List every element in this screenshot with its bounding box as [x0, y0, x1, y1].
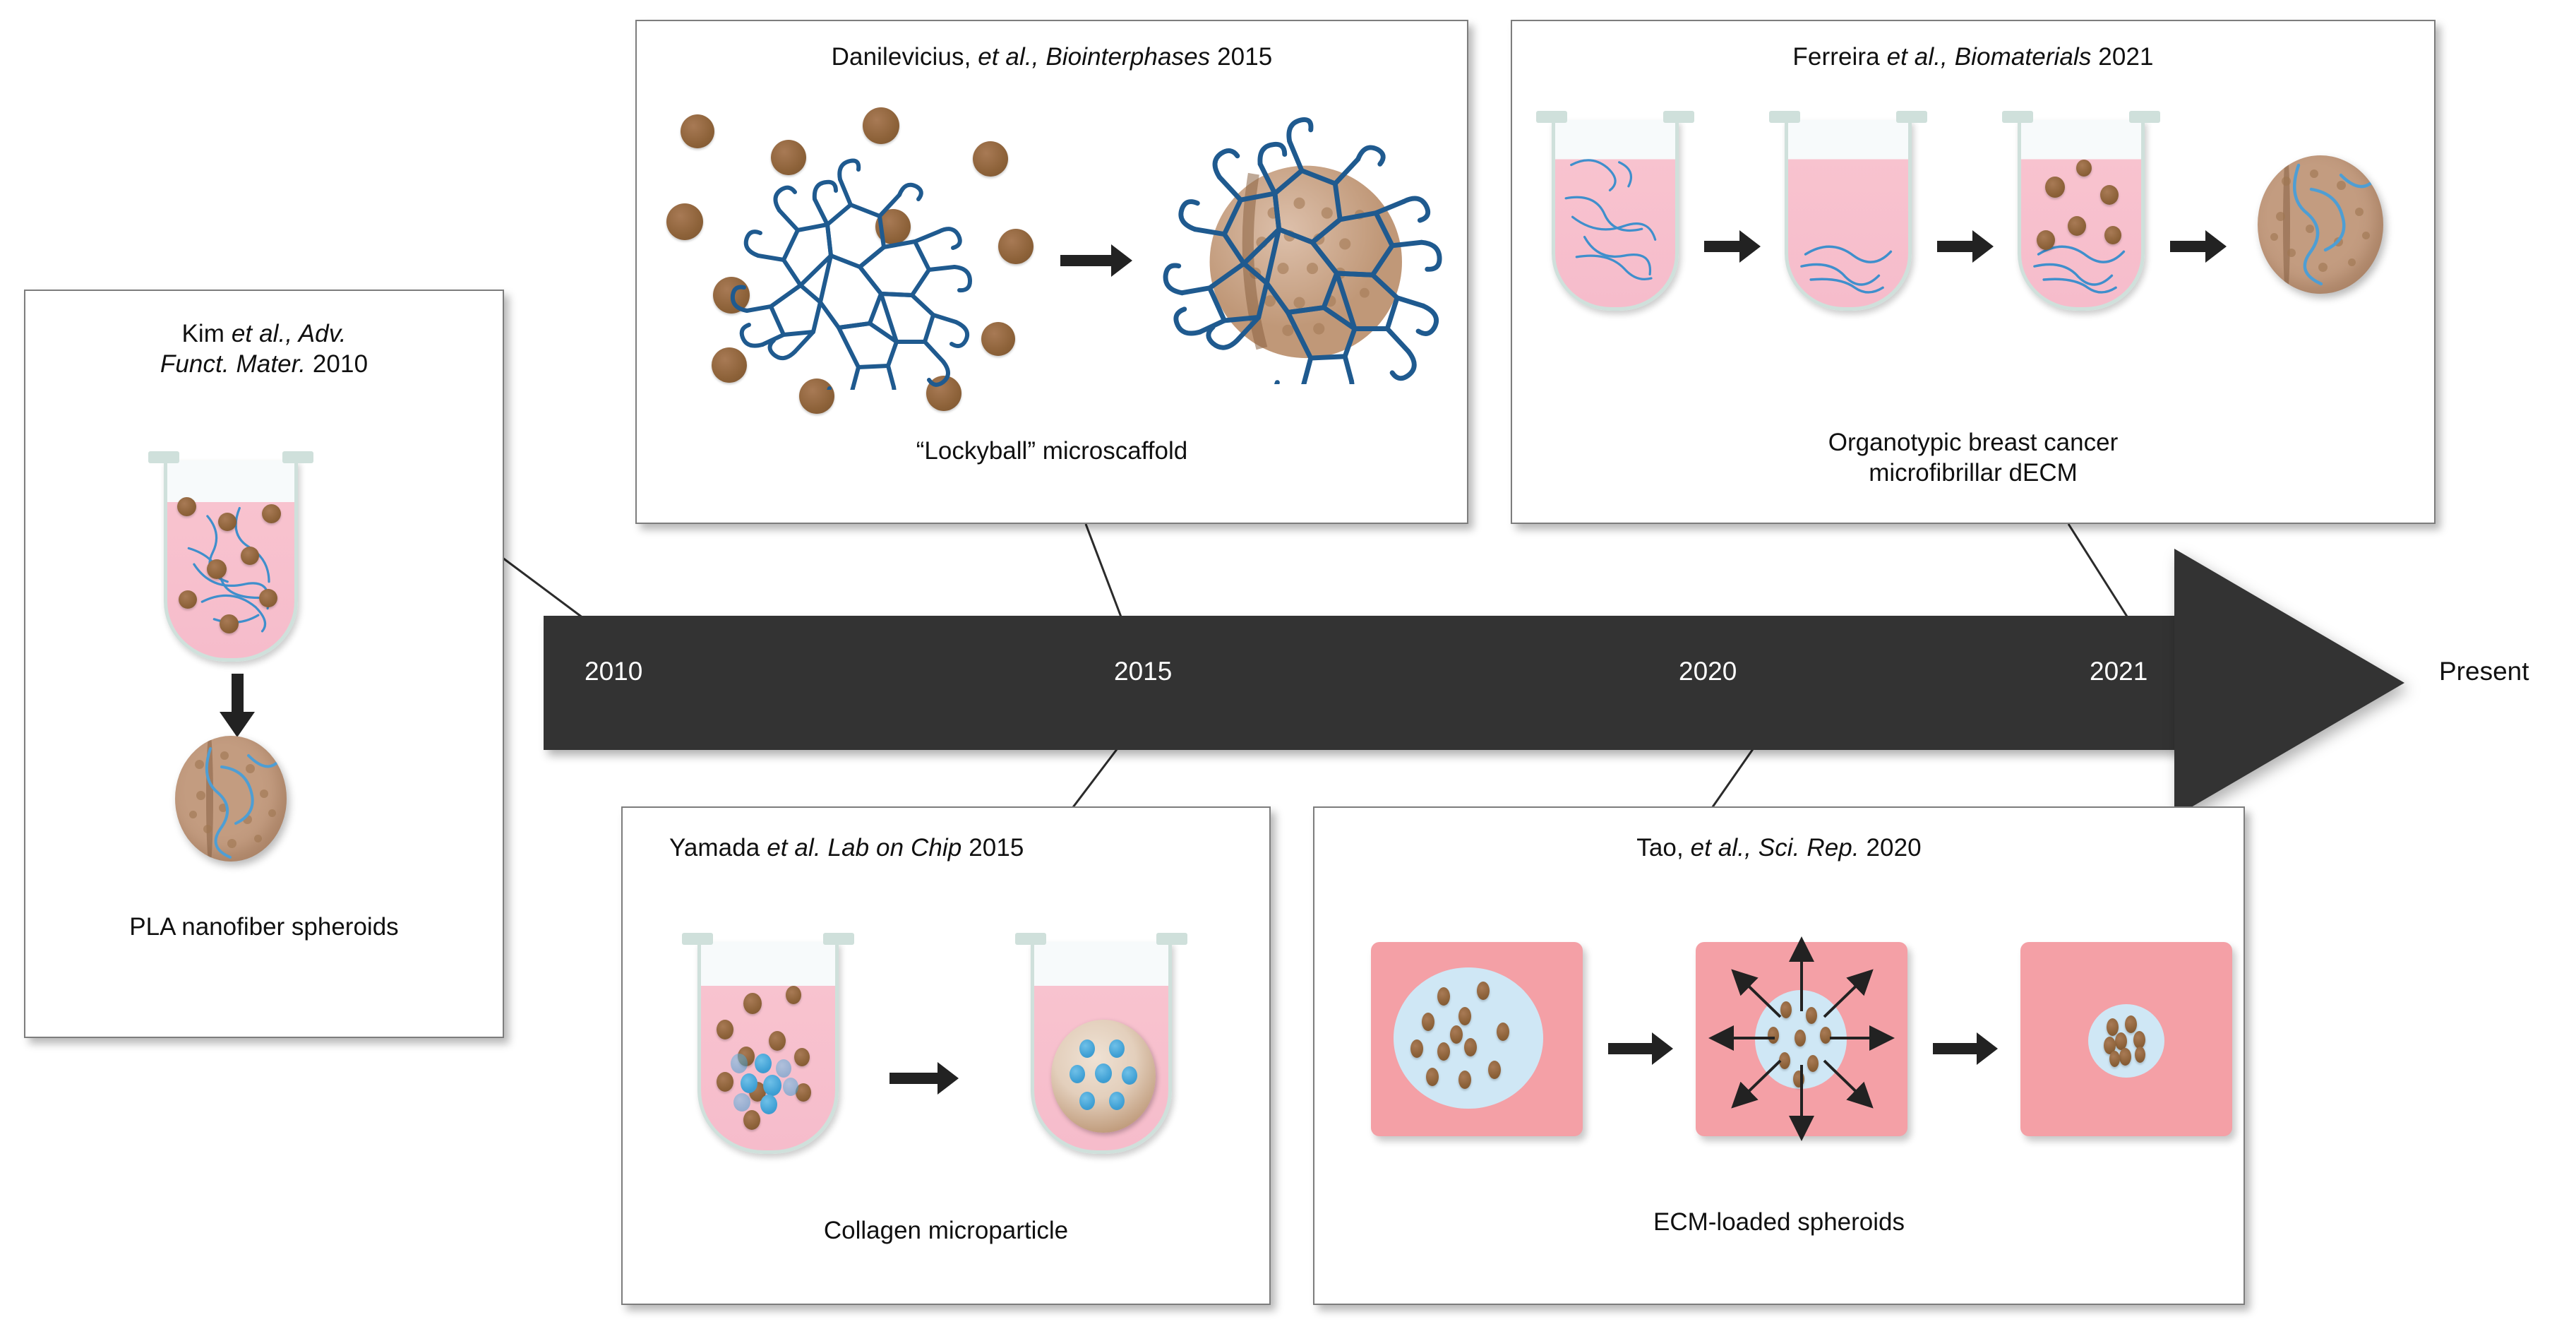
timeline-arrow: 2010 2015 2020 2021	[544, 616, 2400, 750]
panel-tao-title: Tao, et al., Sci. Rep. 2020	[1314, 833, 2243, 864]
kim-microtube-icon	[164, 460, 298, 662]
ecm-droplet	[2088, 1004, 2164, 1078]
ferreira-tube-2	[1785, 120, 1912, 311]
panel-ferreira-caption: Organotypic breast cancermicrofibrillar …	[1512, 428, 2434, 488]
cell-dot	[2037, 230, 2055, 250]
lockyball-empty-icon	[727, 143, 974, 390]
panel-tao-caption: ECM-loaded spheroids	[1314, 1208, 2243, 1238]
panel-yamada-title: Yamada et al. Lab on Chip 2015	[623, 833, 1269, 864]
cell-dot	[681, 114, 714, 148]
cell-dot	[218, 513, 236, 531]
cell-dot	[2100, 185, 2119, 205]
cell-dot	[241, 547, 259, 565]
timeline-bar	[544, 616, 2195, 750]
timeline-tick-2015: 2015	[1114, 657, 1172, 686]
kim-spheroid-icon	[175, 736, 287, 862]
ferreira-spheroid-icon	[2258, 155, 2383, 294]
panel-kim-title: Kim et al., Adv. Funct. Mater. 2010	[25, 319, 503, 379]
fiber-strokes	[2021, 120, 2141, 307]
cell-dot	[973, 141, 1008, 177]
timeline-tick-2020: 2020	[1679, 657, 1737, 686]
tao-gel-square-2	[1696, 942, 1907, 1136]
panel-ferreira-2021[interactable]: Ferreira et al., Biomaterials 2021	[1511, 20, 2436, 524]
timeline-tick-2021: 2021	[2090, 657, 2147, 686]
cell-dot	[259, 589, 277, 607]
arrow-shaft	[232, 674, 244, 712]
arrow-shaft	[1060, 255, 1111, 266]
cell-dot	[2068, 216, 2086, 236]
timeline-arrowhead	[2174, 549, 2404, 817]
fiber-strokes	[1788, 120, 1908, 307]
tao-arrow-2	[1933, 1032, 1998, 1065]
cell-dot	[666, 203, 703, 240]
cell-dot	[2045, 177, 2065, 198]
tube-body	[697, 942, 839, 1154]
panel-ferreira-title: Ferreira et al., Biomaterials 2021	[1512, 42, 2434, 73]
compression-arrows	[1696, 926, 1907, 1152]
cell-dot	[998, 229, 1034, 264]
tao-gel-square-1	[1371, 942, 1583, 1136]
cell-dot	[863, 107, 899, 144]
lockyball-loaded-icon	[1159, 99, 1444, 384]
figure-canvas: 2010 2015 2020 2021 Present Kim et al., …	[0, 0, 2576, 1329]
yamada-tube-2	[1031, 942, 1172, 1154]
yamada-process-arrow	[889, 1062, 959, 1095]
ecm-droplet	[1394, 967, 1543, 1109]
panel-kim-2010[interactable]: Kim et al., Adv. Funct. Mater. 2010	[24, 290, 504, 1038]
cell-dot	[2104, 226, 2121, 244]
panel-danilevicius-caption: “Lockyball” microscaffold	[637, 436, 1467, 467]
ferreira-arrow-3	[2170, 230, 2227, 263]
cell-dot	[2076, 160, 2092, 177]
ferreira-arrow-2	[1937, 230, 1994, 263]
panel-tao-2020[interactable]: Tao, et al., Sci. Rep. 2020	[1313, 806, 2245, 1305]
tube-rim-left	[148, 451, 179, 463]
ferreira-tube-3	[2018, 120, 2145, 311]
danilevicius-stage-1	[651, 99, 1046, 417]
timeline-tick-2010: 2010	[585, 657, 642, 686]
panel-danilevicius-2015[interactable]: Danilevicius, et al., Biointerphases 201…	[635, 20, 1468, 524]
yamada-tube-1	[697, 942, 839, 1154]
danilevicius-process-arrow	[1060, 244, 1132, 277]
cell-dot	[207, 559, 227, 579]
spheroid-fiber-strokes	[175, 736, 287, 862]
tube-body	[2018, 120, 2145, 311]
ferreira-tube-1	[1552, 120, 1679, 311]
cell-dot	[177, 497, 196, 516]
tube-body	[1031, 942, 1172, 1154]
tao-arrow-1	[1608, 1032, 1673, 1065]
kim-process-arrow	[220, 674, 255, 737]
cell-dot	[220, 614, 239, 633]
panel-yamada-caption: Collagen microparticle	[623, 1216, 1269, 1246]
tube-body	[1785, 120, 1912, 311]
arrow-head	[220, 712, 255, 737]
tao-gel-square-3	[2020, 942, 2232, 1136]
panel-danilevicius-title: Danilevicius, et al., Biointerphases 201…	[637, 42, 1467, 73]
spheroid-fiber-strokes	[2258, 155, 2383, 294]
tube-body	[164, 460, 298, 662]
fiber-strokes	[1555, 120, 1675, 307]
cell-dot	[981, 322, 1015, 356]
cell-dot	[262, 504, 281, 523]
arrow-head	[1111, 244, 1132, 277]
panel-yamada-2015[interactable]: Yamada et al. Lab on Chip 2015	[621, 806, 1271, 1305]
panel-kim-caption: PLA nanofiber spheroids	[25, 912, 503, 943]
tube-rim-right	[282, 451, 313, 463]
ferreira-arrow-1	[1704, 230, 1761, 263]
cell-dot	[179, 590, 197, 609]
timeline-present-label: Present	[2439, 657, 2529, 686]
tube-body	[1552, 120, 1679, 311]
collagen-microparticle-icon	[1051, 1020, 1156, 1133]
